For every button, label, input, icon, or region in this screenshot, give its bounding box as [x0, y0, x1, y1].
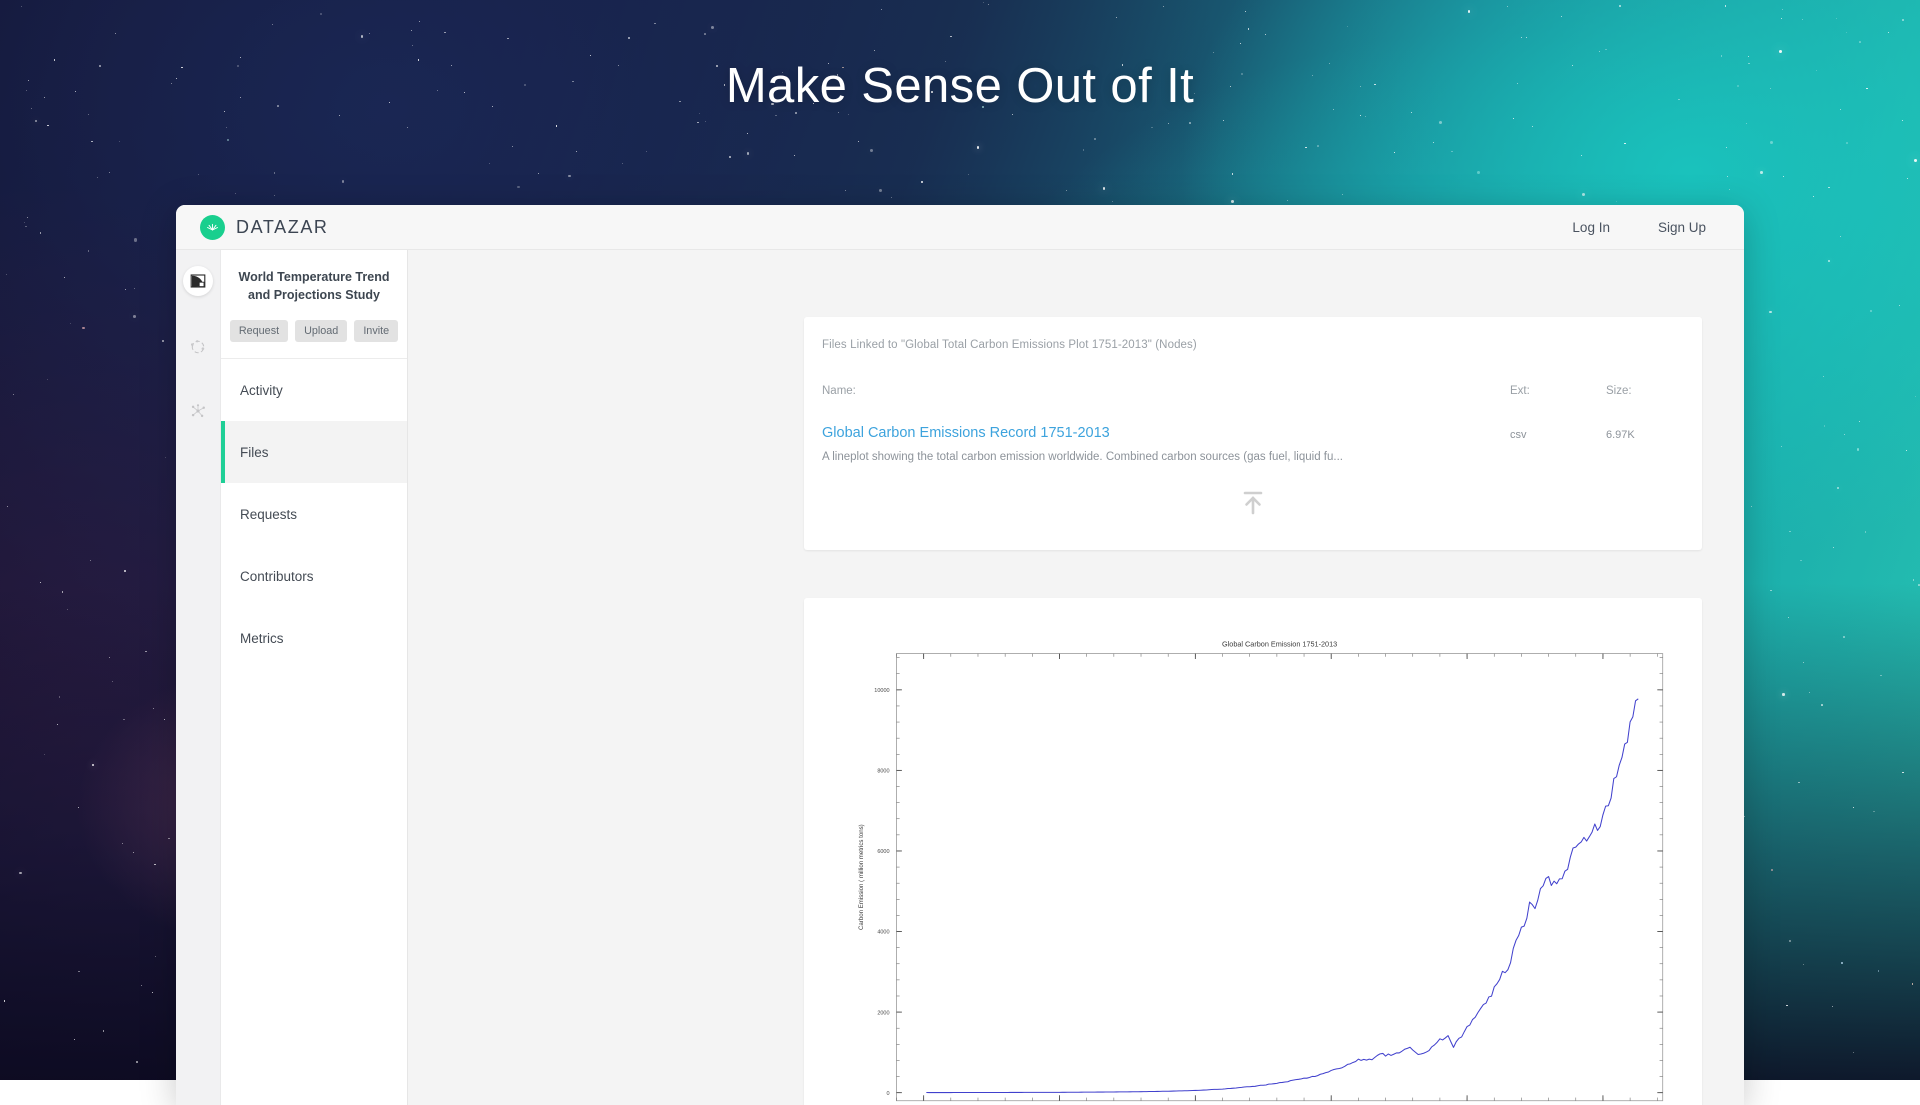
- chart-card: 1750180018501900195020000200040006000800…: [804, 598, 1702, 1105]
- project-thumbnail-icon[interactable]: [183, 266, 213, 296]
- sidebar-item-files[interactable]: Files: [221, 421, 407, 483]
- project-sidebar: World Temperature Trend and Projections …: [221, 250, 408, 1105]
- upload-arrow-icon: [1241, 489, 1265, 520]
- svg-text:4000: 4000: [877, 930, 889, 936]
- page-title: Make Sense Out of It: [0, 58, 1920, 114]
- project-actions: Request Upload Invite: [235, 320, 393, 342]
- svg-text:Global Carbon Emission 1751: Global Carbon Emission 1751-2013: [1222, 640, 1337, 649]
- column-header-name: Name:: [822, 385, 1510, 397]
- svg-text:6000: 6000: [877, 850, 889, 856]
- file-ext-cell: csv: [1510, 425, 1606, 441]
- svg-text:Carbon Emission ( million me: Carbon Emission ( million metrics tons): [858, 825, 865, 931]
- svg-text:10000: 10000: [874, 688, 889, 694]
- sidebar-item-label: Requests: [240, 507, 297, 522]
- signup-link[interactable]: Sign Up: [1658, 220, 1706, 235]
- network-nodes-icon[interactable]: [185, 398, 211, 424]
- login-link[interactable]: Log In: [1572, 220, 1610, 235]
- sidebar-nav: Activity Files Requests Contributors Met…: [221, 359, 407, 669]
- icon-rail: [176, 250, 221, 1105]
- svg-text:8000: 8000: [877, 769, 889, 775]
- sidebar-item-activity[interactable]: Activity: [221, 359, 407, 421]
- upload-button[interactable]: Upload: [295, 320, 347, 342]
- files-table: Name: Ext: Size: Global Carbon Emissions…: [822, 385, 1684, 463]
- column-header-size: Size:: [1606, 385, 1684, 397]
- brand[interactable]: DATAZAR: [200, 215, 329, 240]
- brand-name: DATAZAR: [236, 217, 329, 238]
- sidebar-item-requests[interactable]: Requests: [221, 483, 407, 545]
- header-auth-links: Log In Sign Up: [1572, 220, 1706, 235]
- upload-dropzone[interactable]: [822, 463, 1684, 540]
- files-card-heading: Files Linked to "Global Total Carbon Emi…: [822, 339, 1684, 351]
- request-button[interactable]: Request: [230, 320, 288, 342]
- carbon-emission-lineplot: 1750180018501900195020000200040006000800…: [824, 626, 1682, 1105]
- invite-button[interactable]: Invite: [354, 320, 398, 342]
- app-body: World Temperature Trend and Projections …: [176, 250, 1744, 1105]
- main-content: Files Linked to "Global Total Carbon Emi…: [408, 250, 1744, 1105]
- sidebar-item-metrics[interactable]: Metrics: [221, 607, 407, 669]
- loading-circle-icon[interactable]: [185, 334, 211, 360]
- sidebar-item-label: Metrics: [240, 631, 284, 646]
- project-header: World Temperature Trend and Projections …: [221, 250, 407, 359]
- table-header-row: Name: Ext: Size:: [822, 385, 1684, 397]
- sidebar-item-label: Files: [240, 445, 269, 460]
- svg-text:0: 0: [887, 1091, 890, 1097]
- file-link[interactable]: Global Carbon Emissions Record 1751-2013: [822, 425, 1510, 442]
- sidebar-item-label: Activity: [240, 383, 283, 398]
- sidebar-item-contributors[interactable]: Contributors: [221, 545, 407, 607]
- project-title: World Temperature Trend and Projections …: [235, 268, 393, 304]
- svg-text:2000: 2000: [877, 1011, 889, 1017]
- file-description: A lineplot showing the total carbon emis…: [822, 451, 1510, 463]
- sidebar-item-label: Contributors: [240, 569, 314, 584]
- table-row: Global Carbon Emissions Record 1751-2013…: [822, 425, 1684, 463]
- file-size-cell: 6.97K: [1606, 425, 1684, 441]
- app-window: DATAZAR Log In Sign Up: [176, 205, 1744, 1105]
- app-header: DATAZAR Log In Sign Up: [176, 205, 1744, 250]
- file-name-cell: Global Carbon Emissions Record 1751-2013…: [822, 425, 1510, 463]
- datazar-starburst-icon: [200, 215, 225, 240]
- files-card: Files Linked to "Global Total Carbon Emi…: [804, 317, 1702, 550]
- column-header-ext: Ext:: [1510, 385, 1606, 397]
